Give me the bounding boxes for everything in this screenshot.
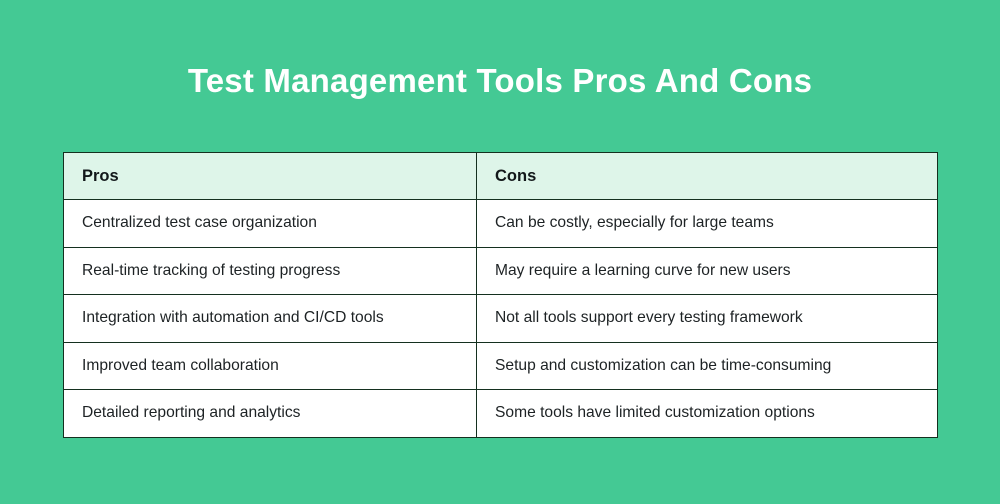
cell-cons: Setup and customization can be time-cons… [477, 342, 938, 390]
cell-cons: Can be costly, especially for large team… [477, 200, 938, 248]
cell-cons: May require a learning curve for new use… [477, 247, 938, 295]
table-row: Integration with automation and CI/CD to… [64, 295, 938, 343]
cell-pros: Detailed reporting and analytics [64, 390, 477, 438]
table-row: Real-time tracking of testing progress M… [64, 247, 938, 295]
cell-pros: Centralized test case organization [64, 200, 477, 248]
column-header-cons: Cons [477, 153, 938, 200]
column-header-pros: Pros [64, 153, 477, 200]
table-body: Centralized test case organization Can b… [64, 200, 938, 438]
table-row: Detailed reporting and analytics Some to… [64, 390, 938, 438]
cell-pros: Improved team collaboration [64, 342, 477, 390]
cell-cons: Not all tools support every testing fram… [477, 295, 938, 343]
pros-cons-table: Pros Cons Centralized test case organiza… [63, 152, 938, 438]
table-row: Improved team collaboration Setup and cu… [64, 342, 938, 390]
cell-pros: Integration with automation and CI/CD to… [64, 295, 477, 343]
table-header-row: Pros Cons [64, 153, 938, 200]
table-header: Pros Cons [64, 153, 938, 200]
cell-pros: Real-time tracking of testing progress [64, 247, 477, 295]
table-row: Centralized test case organization Can b… [64, 200, 938, 248]
cell-cons: Some tools have limited customization op… [477, 390, 938, 438]
pros-cons-table-wrapper: Pros Cons Centralized test case organiza… [63, 152, 937, 438]
infographic-canvas: Test Management Tools Pros And Cons Pros… [0, 0, 1000, 504]
page-title: Test Management Tools Pros And Cons [0, 58, 1000, 104]
